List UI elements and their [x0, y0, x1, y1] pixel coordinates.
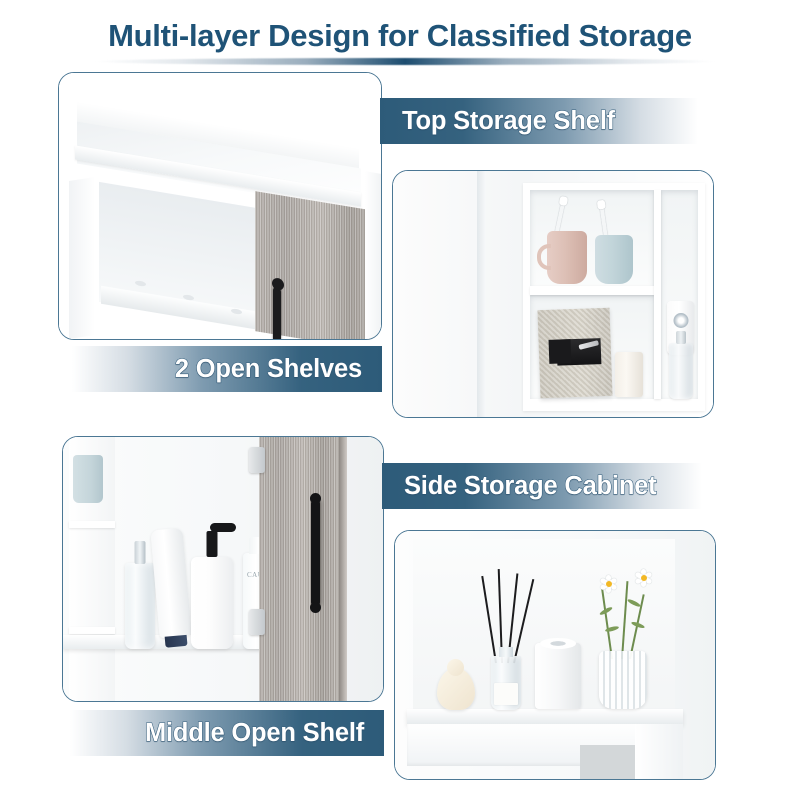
shelf-frame [523, 183, 705, 411]
ribbed-white-vase [599, 651, 647, 709]
infographic-root: Multi-layer Design for Classified Storag… [0, 0, 800, 800]
title-divider [95, 58, 715, 65]
label-two-open-shelves: 2 Open Shelves [72, 346, 382, 392]
photo-side-storage-cabinet: CAUDALIE [63, 437, 383, 701]
label-text: Top Storage Shelf [402, 107, 615, 136]
cabinet-right-side-panel [365, 171, 381, 339]
reed-diffuser-bottle [491, 656, 521, 710]
cabinet-foot [580, 745, 635, 779]
pump-dispenser-bottle [191, 557, 233, 649]
toilet-paper-roll [535, 643, 581, 709]
candle [615, 352, 643, 397]
blue-mug [595, 235, 633, 284]
open-wood-door [259, 437, 339, 701]
cabinet-edge [477, 171, 486, 417]
photo-middle-open-shelf [395, 531, 715, 779]
blue-tumbler [73, 455, 103, 503]
middle-open-shelf-board [407, 709, 683, 724]
page-title: Multi-layer Design for Classified Storag… [0, 18, 800, 54]
panel-bottom-right [394, 530, 716, 780]
door-hinge-icon [249, 609, 265, 635]
label-middle-open-shelf: Middle Open Shelf [70, 710, 384, 756]
panel-top-right [392, 170, 714, 418]
cabinet-side-leg [635, 724, 683, 779]
photo-two-open-shelves [393, 171, 713, 417]
label-text: 2 Open Shelves [175, 355, 362, 384]
panel-bottom-left: CAUDALIE [62, 436, 384, 702]
cubby-horizontal-divider [530, 286, 654, 295]
cabinet-door-handle [311, 499, 320, 607]
photo-top-storage-shelf [59, 73, 381, 339]
door-hinge-icon [249, 447, 265, 473]
label-text: Middle Open Shelf [145, 719, 364, 748]
door-handle [273, 286, 281, 339]
label-side-storage-cabinet: Side Storage Cabinet [382, 463, 702, 509]
daisy-flower-icon [600, 575, 617, 592]
gift-box [537, 308, 612, 398]
label-top-storage-shelf: Top Storage Shelf [380, 98, 698, 144]
panel-top-left [58, 72, 382, 340]
cream-figurine [437, 668, 475, 710]
glass-dropper-bottle [669, 343, 693, 399]
label-text: Side Storage Cabinet [404, 472, 656, 501]
pink-mug [547, 231, 587, 284]
cabinet-left-side-panel [69, 177, 95, 339]
daisy-flower-icon [635, 569, 652, 586]
serum-glass-bottle [125, 563, 155, 649]
cubby-vertical-divider [654, 190, 661, 399]
